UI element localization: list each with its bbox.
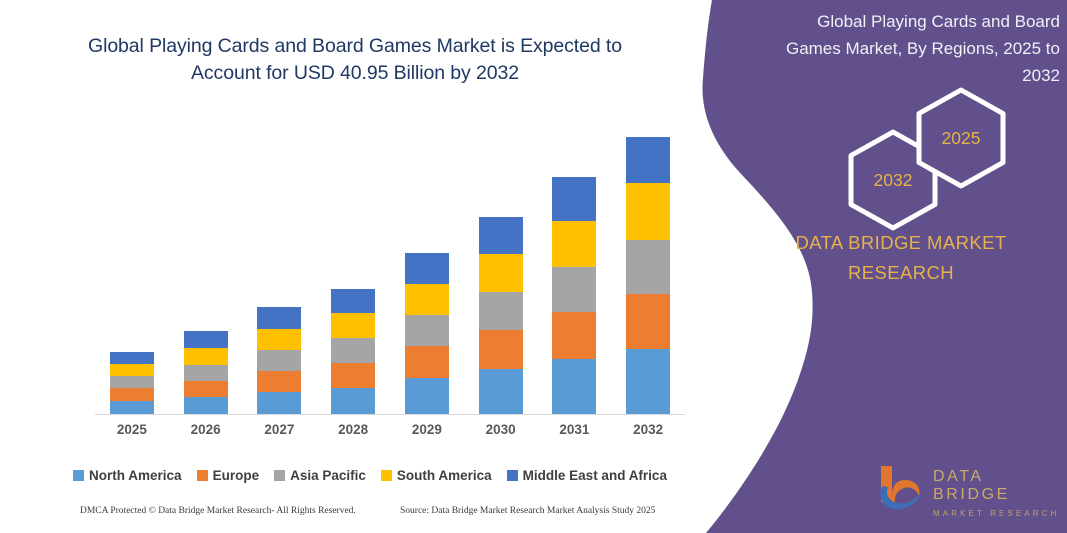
legend-label: South America bbox=[397, 468, 492, 483]
page-title: Global Playing Cards and Board Games Mar… bbox=[60, 33, 650, 87]
legend-swatch-icon bbox=[73, 470, 84, 481]
bar-segment-north-america[interactable] bbox=[110, 401, 154, 414]
x-axis-label-2029: 2029 bbox=[391, 422, 462, 444]
bar-segment-north-america[interactable] bbox=[405, 378, 449, 414]
bar-segment-north-america[interactable] bbox=[479, 369, 523, 414]
legend-label: Europe bbox=[213, 468, 260, 483]
bar-segment-asia-pacific[interactable] bbox=[184, 365, 228, 381]
bar-segment-north-america[interactable] bbox=[331, 388, 375, 414]
stacked-bar[interactable] bbox=[479, 217, 523, 414]
bar-segment-asia-pacific[interactable] bbox=[110, 376, 154, 388]
panel-content: Global Playing Cards and Board Games Mar… bbox=[735, 0, 1067, 533]
bar-column-2027 bbox=[244, 110, 315, 414]
stacked-bar[interactable] bbox=[626, 137, 670, 414]
bar-segment-south-america[interactable] bbox=[405, 284, 449, 315]
bar-segment-europe[interactable] bbox=[626, 294, 670, 349]
legend-label: Asia Pacific bbox=[290, 468, 366, 483]
bar-segment-middle-east-and-africa[interactable] bbox=[479, 217, 523, 254]
x-axis-label-2025: 2025 bbox=[96, 422, 167, 444]
panel-title: Global Playing Cards and Board Games Mar… bbox=[760, 8, 1060, 89]
stacked-bar[interactable] bbox=[184, 331, 228, 414]
legend-item-europe[interactable]: Europe bbox=[197, 468, 260, 483]
bar-segment-middle-east-and-africa[interactable] bbox=[257, 307, 301, 329]
stacked-bar[interactable] bbox=[405, 253, 449, 414]
bar-segment-south-america[interactable] bbox=[626, 183, 670, 240]
bar-segment-south-america[interactable] bbox=[110, 364, 154, 376]
bar-column-2026 bbox=[170, 110, 241, 414]
bar-segment-south-america[interactable] bbox=[331, 313, 375, 338]
data-bridge-logo-icon bbox=[875, 464, 927, 512]
stacked-bar[interactable] bbox=[110, 352, 154, 414]
x-axis-line bbox=[95, 414, 685, 415]
bar-segment-south-america[interactable] bbox=[479, 254, 523, 292]
hexagon-2025-label: 2025 bbox=[913, 85, 1009, 191]
bar-segment-south-america[interactable] bbox=[257, 329, 301, 351]
bar-column-2028 bbox=[318, 110, 389, 414]
legend-item-middle-east-and-africa[interactable]: Middle East and Africa bbox=[507, 468, 667, 483]
legend-swatch-icon bbox=[274, 470, 285, 481]
legend-item-asia-pacific[interactable]: Asia Pacific bbox=[274, 468, 366, 483]
footer-source: Source: Data Bridge Market Research Mark… bbox=[400, 506, 655, 516]
bar-segment-asia-pacific[interactable] bbox=[405, 315, 449, 346]
x-axis-label-2030: 2030 bbox=[465, 422, 536, 444]
bar-group bbox=[95, 110, 685, 414]
bar-column-2032 bbox=[613, 110, 684, 414]
legend-swatch-icon bbox=[381, 470, 392, 481]
bar-segment-asia-pacific[interactable] bbox=[479, 292, 523, 330]
bar-segment-middle-east-and-africa[interactable] bbox=[184, 331, 228, 348]
x-axis-label-2031: 2031 bbox=[539, 422, 610, 444]
bar-segment-europe[interactable] bbox=[552, 312, 596, 359]
bar-segment-europe[interactable] bbox=[405, 346, 449, 378]
chart-card: Global Playing Cards and Board Games Mar… bbox=[0, 0, 706, 533]
bar-segment-north-america[interactable] bbox=[626, 349, 670, 414]
bar-column-2030 bbox=[465, 110, 536, 414]
bar-segment-south-america[interactable] bbox=[184, 348, 228, 365]
bar-segment-europe[interactable] bbox=[257, 371, 301, 392]
footer-copyright: DMCA Protected © Data Bridge Market Rese… bbox=[80, 506, 356, 516]
hexagon-2025: 2025 bbox=[913, 85, 1009, 191]
logo-line-1: DATA BRIDGE bbox=[933, 468, 1065, 504]
bar-segment-asia-pacific[interactable] bbox=[626, 240, 670, 293]
bar-segment-asia-pacific[interactable] bbox=[331, 338, 375, 362]
x-axis-labels: 20252026202720282029203020312032 bbox=[95, 422, 685, 444]
stacked-bar[interactable] bbox=[257, 307, 301, 414]
chart-legend: North AmericaEuropeAsia PacificSouth Ame… bbox=[60, 468, 680, 483]
bar-column-2031 bbox=[539, 110, 610, 414]
brand-name: DATA BRIDGE MARKET RESEARCH bbox=[751, 228, 1051, 288]
hexagon-group: 2032 2025 bbox=[805, 95, 1065, 200]
legend-item-north-america[interactable]: North America bbox=[73, 468, 182, 483]
legend-swatch-icon bbox=[197, 470, 208, 481]
bar-segment-north-america[interactable] bbox=[257, 392, 301, 414]
legend-label: Middle East and Africa bbox=[523, 468, 667, 483]
bar-column-2025 bbox=[96, 110, 167, 414]
logo-wordmark: DATA BRIDGE MARKET RESEARCH bbox=[933, 468, 1065, 518]
stacked-bar[interactable] bbox=[552, 177, 596, 414]
infographic-root: Global Playing Cards and Board Games Mar… bbox=[0, 0, 1067, 533]
logo-line-2: MARKET RESEARCH bbox=[933, 509, 1065, 518]
x-axis-label-2026: 2026 bbox=[170, 422, 241, 444]
x-axis-label-2032: 2032 bbox=[613, 422, 684, 444]
bar-chart-plot bbox=[95, 110, 685, 415]
bar-column-2029 bbox=[391, 110, 462, 414]
bar-segment-north-america[interactable] bbox=[552, 359, 596, 414]
stacked-bar[interactable] bbox=[331, 289, 375, 414]
bar-segment-middle-east-and-africa[interactable] bbox=[405, 253, 449, 284]
footer: DMCA Protected © Data Bridge Market Rese… bbox=[0, 506, 706, 526]
bar-segment-middle-east-and-africa[interactable] bbox=[626, 137, 670, 183]
bar-segment-europe[interactable] bbox=[331, 363, 375, 388]
bar-segment-asia-pacific[interactable] bbox=[552, 267, 596, 312]
bar-segment-asia-pacific[interactable] bbox=[257, 350, 301, 371]
legend-swatch-icon bbox=[507, 470, 518, 481]
x-axis-label-2027: 2027 bbox=[244, 422, 315, 444]
bar-segment-middle-east-and-africa[interactable] bbox=[552, 177, 596, 220]
x-axis-label-2028: 2028 bbox=[318, 422, 389, 444]
bar-segment-europe[interactable] bbox=[184, 381, 228, 397]
bar-segment-north-america[interactable] bbox=[184, 397, 228, 414]
legend-label: North America bbox=[89, 468, 182, 483]
bar-segment-south-america[interactable] bbox=[552, 221, 596, 267]
legend-item-south-america[interactable]: South America bbox=[381, 468, 492, 483]
bar-segment-europe[interactable] bbox=[110, 388, 154, 401]
bar-segment-middle-east-and-africa[interactable] bbox=[331, 289, 375, 313]
bar-segment-europe[interactable] bbox=[479, 330, 523, 369]
company-logo: DATA BRIDGE MARKET RESEARCH bbox=[875, 462, 1065, 514]
bar-segment-middle-east-and-africa[interactable] bbox=[110, 352, 154, 364]
